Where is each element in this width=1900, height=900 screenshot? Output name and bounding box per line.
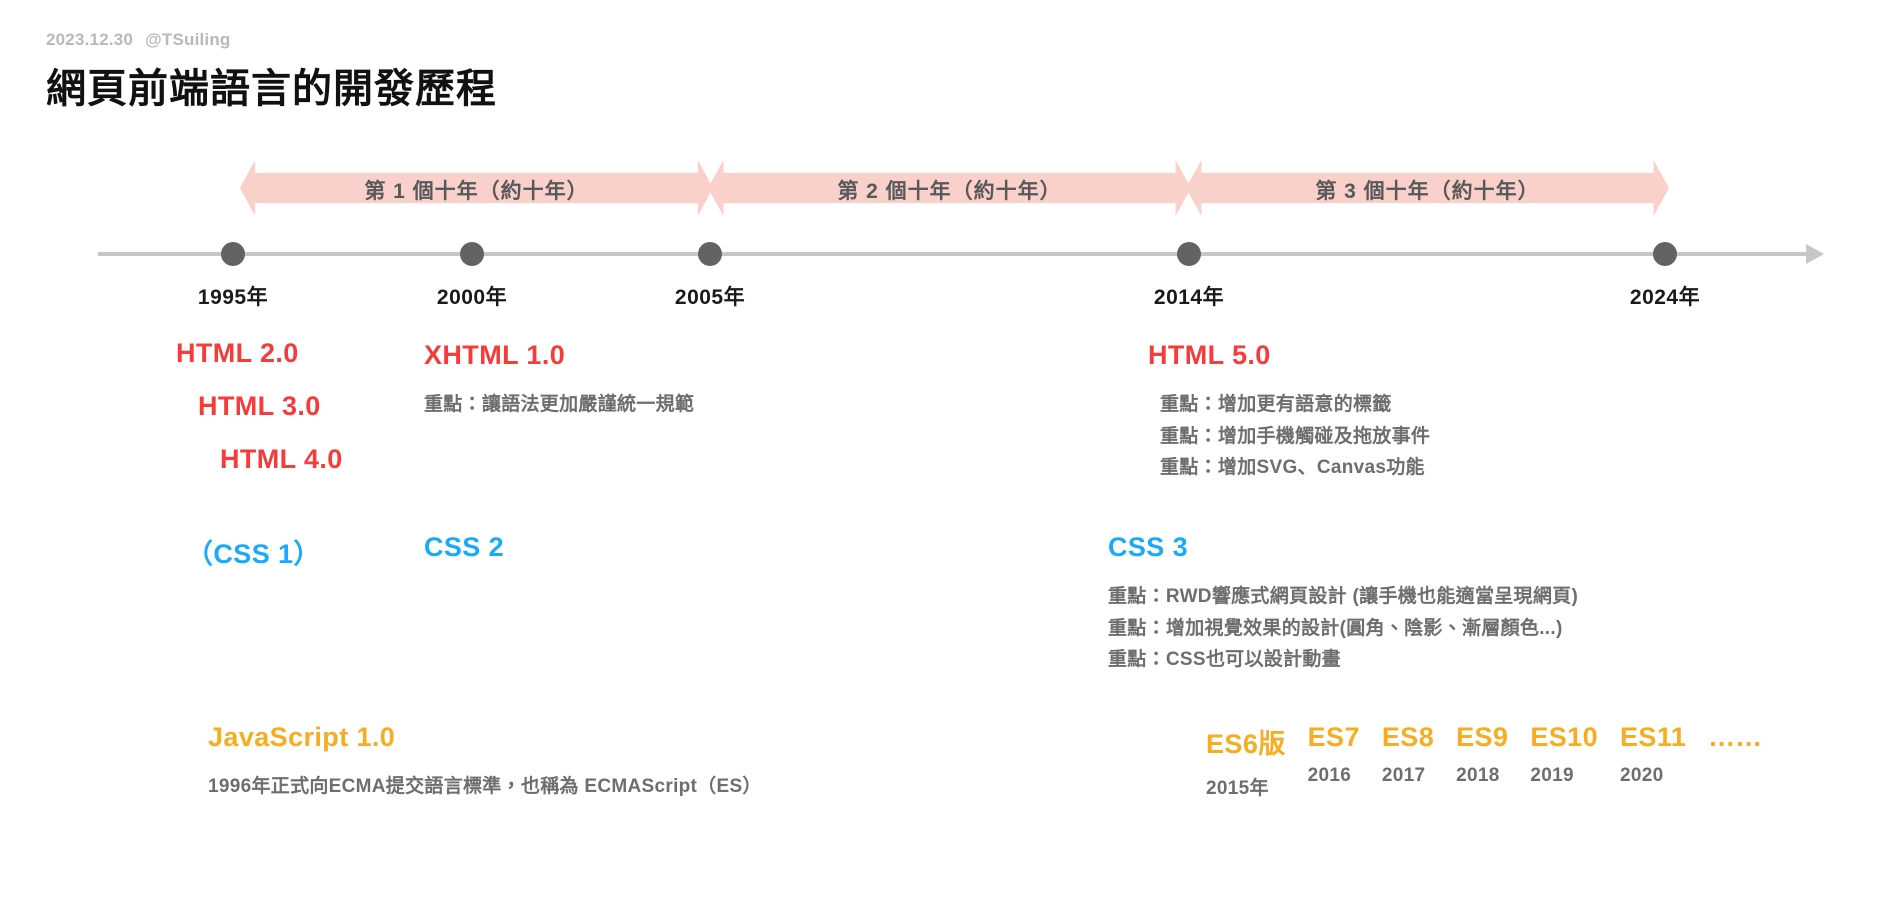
javascript-block: JavaScript 1.0 1996年正式向ECMA提交語言標準，也稱為 EC… [208,722,762,803]
timeline-year-label: 2024年 [1630,281,1700,311]
css1-block: （CSS 1） [186,532,321,571]
javascript-note: 1996年正式向ECMA提交語言標準，也稱為 ECMAScript（ES） [208,771,762,803]
decade-label: 第 2 個十年（約十年） [837,175,1061,205]
es-version-item: ES11 2020 [1620,722,1686,787]
css1-heading: （CSS 1） [186,532,321,571]
css2-heading: CSS 2 [424,532,504,563]
decade-label: 第 3 個十年（約十年） [1315,175,1539,205]
timeline-year-label: 2000年 [437,281,507,311]
es-versions-ellipsis: …… [1708,722,1762,753]
es-version-year: 2015年 [1206,773,1286,800]
timeline-dot-1995[interactable] [221,242,245,266]
timeline-axis [98,252,1810,256]
xhtml-heading: XHTML 1.0 [424,340,694,371]
html-early-versions-block: HTML 2.0 HTML 3.0 HTML 4.0 [176,340,343,473]
html-version-label: HTML 4.0 [220,446,343,473]
xhtml-block: XHTML 1.0 重點：讓語法更加嚴謹統一規範 [424,340,694,421]
header: 2023.12.30@TSuiling 網頁前端語言的開發歷程 [46,30,497,114]
es-version-year: 2019 [1530,765,1598,787]
html5-note: 重點：增加SVG、Canvas功能 [1160,452,1430,484]
html5-notes: 重點：增加更有語意的標籤 重點：增加手機觸碰及拖放事件 重點：增加SVG、Can… [1160,389,1430,484]
es-versions-list: ES6版 2015年 ES7 2016 ES8 2017 ES9 2018 ES… [1206,722,1762,800]
css2-block: CSS 2 [424,532,504,563]
timeline-year-label: 2005年 [675,281,745,311]
css3-note: 重點：CSS也可以設計動畫 [1108,644,1578,676]
decade-arrow-1: 第 1 個十年（約十年） [240,160,713,216]
css3-note: 重點：RWD響應式網頁設計 (讓手機也能適當呈現網頁) [1108,581,1578,613]
header-meta: 2023.12.30@TSuiling [46,30,497,50]
author-handle: @TSuiling [145,30,230,49]
es-version-name: ES8 [1382,722,1434,753]
css3-notes: 重點：RWD響應式網頁設計 (讓手機也能適當呈現網頁) 重點：增加視覺效果的設計… [1108,581,1578,676]
decade-label: 第 1 個十年（約十年） [364,175,588,205]
decade-band: 第 1 個十年（約十年） 第 2 個十年（約十年） 第 3 個十年（約十年） [0,160,1900,216]
es-version-year: 2018 [1456,765,1508,787]
decade-arrow-3: 第 3 個十年（約十年） [1186,160,1669,216]
publish-date: 2023.12.30 [46,30,133,49]
html-version-label: HTML 2.0 [176,340,343,367]
axis-arrow-icon [1806,244,1824,264]
page-title: 網頁前端語言的開發歷程 [46,56,497,114]
timeline-dot-2000[interactable] [460,242,484,266]
html-version-label: HTML 3.0 [198,393,343,420]
es-version-name: ES10 [1530,722,1598,753]
es-version-name: ES7 [1308,722,1360,753]
html5-heading: HTML 5.0 [1148,340,1430,371]
xhtml-note: 重點：讓語法更加嚴謹統一規範 [424,389,694,421]
css3-block: CSS 3 重點：RWD響應式網頁設計 (讓手機也能適當呈現網頁) 重點：增加視… [1108,532,1578,676]
timeline-dot-2005[interactable] [698,242,722,266]
html5-block: HTML 5.0 重點：增加更有語意的標籤 重點：增加手機觸碰及拖放事件 重點：… [1148,340,1430,484]
timeline-dot-2024[interactable] [1653,242,1677,266]
es-version-item: ES9 2018 [1456,722,1508,787]
es-version-name: ES11 [1620,722,1686,753]
es-version-name: ES9 [1456,722,1508,753]
timeline-year-label: 2014年 [1154,281,1224,311]
es-version-year: 2017 [1382,765,1434,787]
html5-note: 重點：增加更有語意的標籤 [1160,389,1430,421]
es-version-item: ES8 2017 [1382,722,1434,787]
css3-note: 重點：增加視覺效果的設計(圓角、陰影、漸層顏色...) [1108,613,1578,645]
es-version-item: ES7 2016 [1308,722,1360,787]
decade-arrow-2: 第 2 個十年（約十年） [708,160,1191,216]
es-version-year: 2016 [1308,765,1360,787]
es-version-item: ES10 2019 [1530,722,1598,787]
javascript-heading: JavaScript 1.0 [208,722,762,753]
es-version-item: ES6版 2015年 [1206,722,1286,800]
es-version-year: 2020 [1620,765,1686,787]
html5-note: 重點：增加手機觸碰及拖放事件 [1160,421,1430,453]
es-version-name: ES6版 [1206,722,1286,761]
timeline-year-label: 1995年 [198,281,268,311]
css3-heading: CSS 3 [1108,532,1578,563]
timeline-dot-2014[interactable] [1177,242,1201,266]
